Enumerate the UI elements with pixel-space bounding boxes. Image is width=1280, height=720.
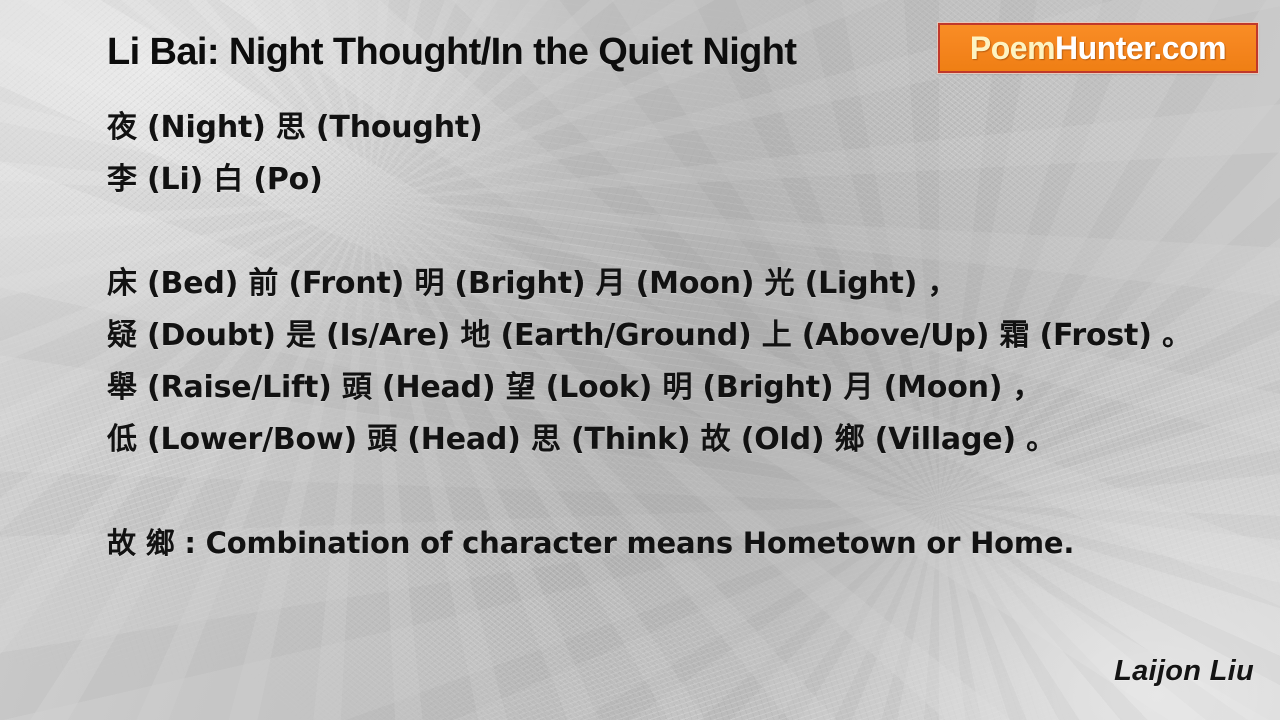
slide-canvas: Li Bai: Night Thought/In the Quiet Night…: [0, 0, 1280, 720]
poem-line-3: 舉 (Raise/Lift) 頭 (Head) 望 (Look) 明 (Brig…: [107, 370, 1042, 406]
watermark-text-hunter: Hunter.com: [1055, 30, 1226, 66]
watermark-text-poem: Poem: [970, 30, 1055, 66]
page-title: Li Bai: Night Thought/In the Quiet Night: [107, 30, 796, 74]
poem-line-4: 低 (Lower/Bow) 頭 (Head) 思 (Think) 故 (Old)…: [107, 422, 1056, 458]
poem-line-1: 床 (Bed) 前 (Front) 明 (Bright) 月 (Moon) 光 …: [107, 266, 957, 302]
author-signature: Laijon Liu: [1114, 655, 1254, 688]
poem-title-chinese-line: 夜 (Night) 思 (Thought): [107, 110, 483, 146]
watermark-text: PoemHunter.com: [970, 31, 1226, 65]
poemhunter-watermark[interactable]: PoemHunter.com: [938, 23, 1258, 73]
slide-content: Li Bai: Night Thought/In the Quiet Night…: [0, 0, 1280, 720]
poem-line-2: 疑 (Doubt) 是 (Is/Are) 地 (Earth/Ground) 上 …: [107, 318, 1192, 354]
footnote-hometown: 故 鄉 : Combination of character means Hom…: [107, 525, 1074, 561]
poem-author-chinese-line: 李 (Li) 白 (Po): [107, 162, 323, 198]
